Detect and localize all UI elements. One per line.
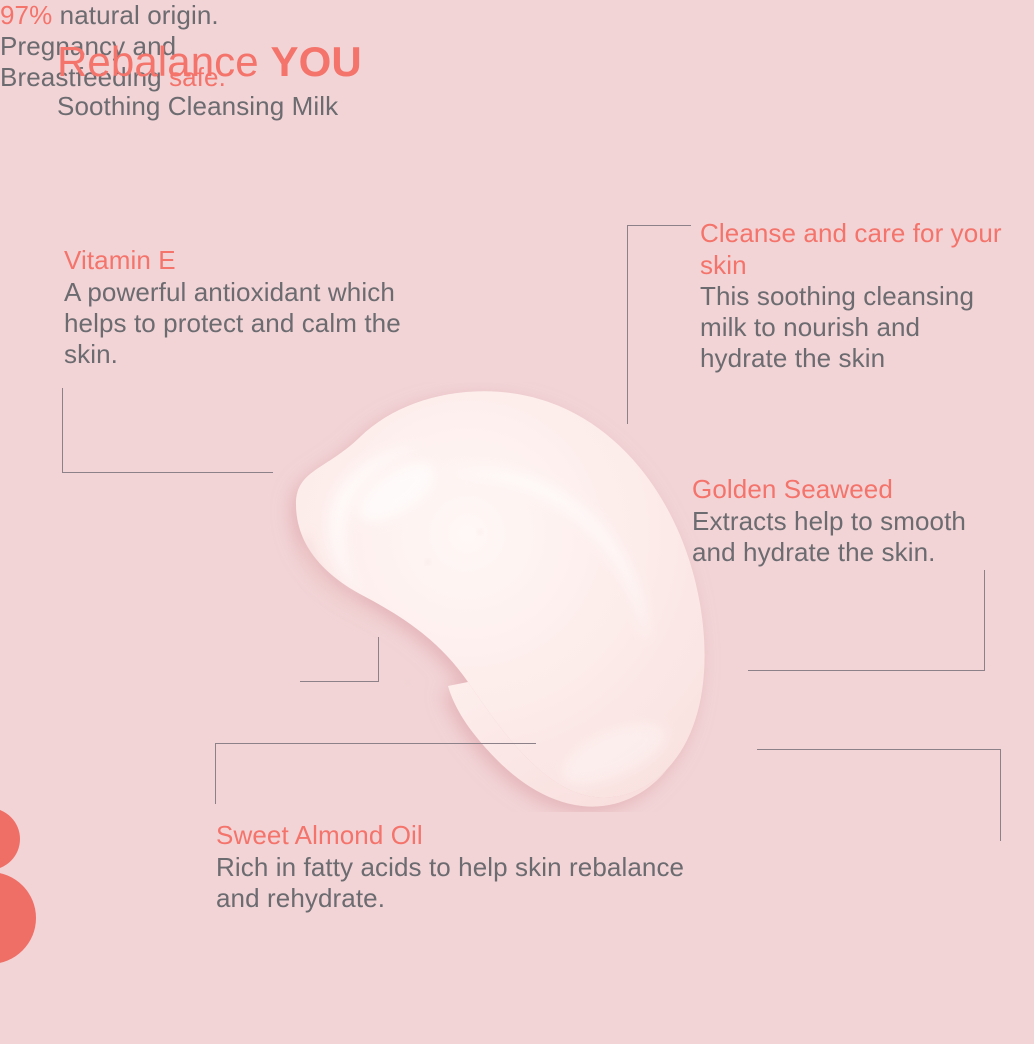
callout-golden-seaweed-title: Golden Seaweed bbox=[692, 474, 1012, 506]
product-infographic: Rebalance YOU Soothing Cleansing Milk Vi… bbox=[0, 0, 1034, 1044]
natural-origin-text: natural origin. bbox=[52, 0, 218, 30]
callout-vitamin-e: Vitamin E A powerful antioxidant which h… bbox=[64, 245, 424, 370]
decorative-circle-large bbox=[0, 872, 36, 964]
callout-golden-seaweed-body: Extracts help to smooth and hydrate the … bbox=[692, 506, 1012, 568]
callout-natural-origin: 97% natural origin. bbox=[0, 0, 1034, 31]
callout-sweet-almond-oil: Sweet Almond Oil Rich in fatty acids to … bbox=[216, 820, 686, 914]
callout-sweet-almond-oil-title: Sweet Almond Oil bbox=[216, 820, 686, 852]
title-bold-text: YOU bbox=[270, 38, 361, 85]
callout-cleanse-and-care: Cleanse and care for your skin This soot… bbox=[700, 218, 1010, 374]
connector-line-natural-origin bbox=[300, 637, 379, 682]
title-light-text: Rebalance bbox=[57, 38, 270, 85]
callout-vitamin-e-body: A powerful antioxidant which helps to pr… bbox=[64, 277, 424, 370]
connector-line-sweet-almond-oil bbox=[215, 743, 536, 804]
connector-line-golden-seaweed bbox=[748, 570, 985, 671]
natural-origin-percent: 97% bbox=[0, 0, 52, 30]
callout-cleanse-title: Cleanse and care for your skin bbox=[700, 218, 1010, 281]
page-subtitle: Soothing Cleansing Milk bbox=[57, 91, 362, 122]
header-block: Rebalance YOU Soothing Cleansing Milk bbox=[57, 40, 362, 122]
connector-line-pregnancy bbox=[757, 749, 1001, 841]
callout-cleanse-body: This soothing cleansing milk to nourish … bbox=[700, 281, 1010, 374]
connector-line-vitamin-e bbox=[62, 388, 273, 473]
decorative-circle-small bbox=[0, 808, 20, 870]
callout-golden-seaweed: Golden Seaweed Extracts help to smooth a… bbox=[692, 474, 1012, 568]
connector-line-cleanse bbox=[627, 225, 691, 424]
callout-sweet-almond-oil-body: Rich in fatty acids to help skin rebalan… bbox=[216, 852, 686, 914]
page-title: Rebalance YOU bbox=[57, 40, 362, 84]
callout-vitamin-e-title: Vitamin E bbox=[64, 245, 424, 277]
